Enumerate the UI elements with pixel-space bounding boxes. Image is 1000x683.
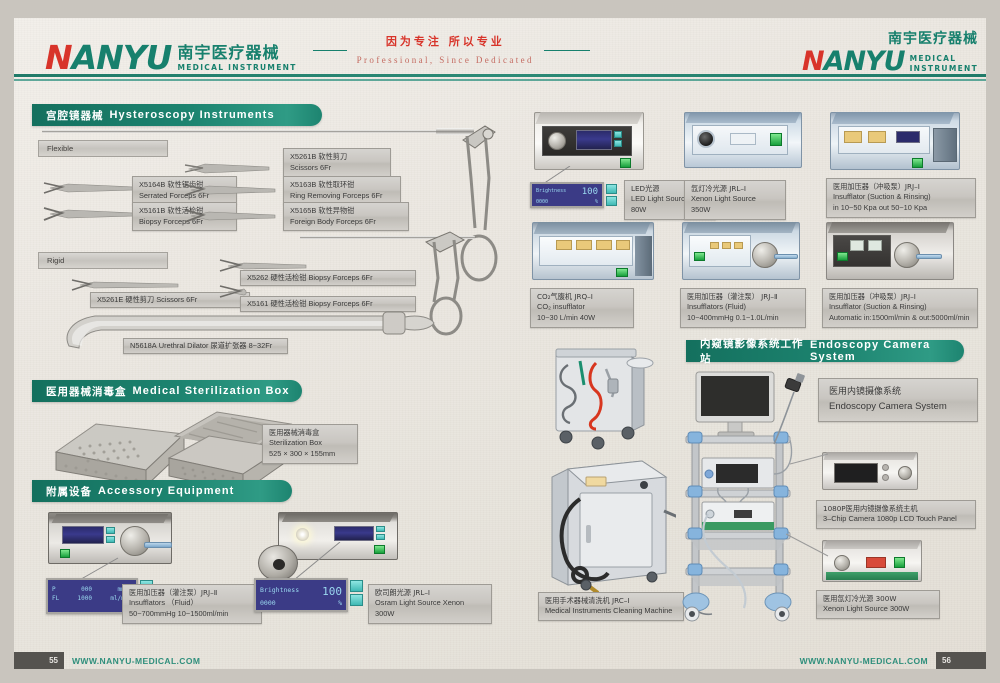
device-side-panel <box>933 128 957 162</box>
n5618a-code: N5618A <box>130 341 157 352</box>
xenon-light-cn: 氙灯冷光源 JRL–Ⅰ <box>691 184 779 194</box>
insufflator-fluid-cn: 医用加压器（灌注泵）JRJ–Ⅱ <box>129 588 255 598</box>
lcd-osram-label-1: Brightness <box>260 586 299 597</box>
lcd-insufflator-label-2: FL <box>52 595 59 602</box>
caption-x5262: X5262 硬性活检钳 Biopsy Forceps 6Fr <box>240 270 416 286</box>
section-header-hysteroscopy-cn: 宫腔镜器械 <box>46 108 104 123</box>
camera-ccu-en: 3–Chip Camera 1080p LCD Touch Panel <box>823 514 969 525</box>
co2-insufflator-cn: CO₂气腹机 JRQ–Ⅰ <box>537 292 627 302</box>
x5165b-cn: 软性异物钳 <box>318 206 354 215</box>
insufflator-fluid2-spec: 10~400mmHg 0.1~1.0L/min <box>687 313 799 324</box>
page-frame-top <box>0 0 1000 18</box>
device-display-1 <box>710 242 719 249</box>
x5163b-code: X5163B <box>290 180 316 189</box>
device-pump-rotor[interactable] <box>120 526 150 556</box>
caption-sterilization-box: 医用器械消毒盒 Sterilization Box 525 × 300 × 15… <box>262 424 358 464</box>
xenon-300w-en: Xenon Light Source 300W <box>823 604 933 615</box>
footer-right: WWW.NANYU-MEDICAL.COM 56 <box>792 652 986 669</box>
cleaning-machine-en: Medical Instruments Cleaning Machine <box>545 606 677 617</box>
device-button-2[interactable] <box>376 534 385 540</box>
device-tubing <box>916 254 942 259</box>
device-xenon-light-300w <box>822 540 922 582</box>
section-header-camera-en: Endoscopy Camera System <box>810 339 964 363</box>
device-top-panel <box>52 514 169 523</box>
section-header-accessory-cn: 附属设备 <box>46 484 92 499</box>
device-top-panel <box>823 540 921 549</box>
device-light-port <box>697 130 715 148</box>
device-button-1[interactable] <box>376 526 385 532</box>
sterilization-box-dimensions: 525 × 300 × 155mm <box>269 449 351 460</box>
instrument-cleaning-machine-icon <box>546 455 676 595</box>
section-header-sterilization-en: Medical Sterilization Box <box>133 385 290 397</box>
insufflator-auto-spec: Automatic in:1500ml/min & out:5000ml/min <box>829 313 971 324</box>
n5618a-en: Urethral Dilator <box>159 341 209 352</box>
device-power-led <box>374 545 385 554</box>
header-rule-secondary <box>14 79 986 81</box>
device-display-2 <box>868 131 886 143</box>
device-button-2[interactable] <box>614 140 622 147</box>
co2-insufflator-spec: 10~30 L/min 40W <box>537 313 627 324</box>
device-top-panel <box>535 112 642 124</box>
device-top-panel <box>823 452 916 460</box>
section-header-sterilization: 医用器械消毒盒 Medical Sterilization Box <box>32 380 302 402</box>
device-power-led <box>837 252 848 261</box>
section-header-hysteroscopy-en: Hysteroscopy Instruments <box>110 109 275 121</box>
device-xenon-light-source <box>684 112 802 168</box>
section-header-camera-cn: 内窥镜影像系统工作站 <box>700 336 804 366</box>
section-header-camera-system: 内窥镜影像系统工作站 Endoscopy Camera System <box>686 340 964 362</box>
lcd-led-label-2: 0000 <box>536 199 548 205</box>
lcd-osram-unit-2: % <box>338 599 342 607</box>
x5262-en: Biopsy Forceps 6Fr <box>308 273 372 284</box>
lcd-button-up[interactable] <box>350 580 363 592</box>
device-insufflator-fluid-2 <box>682 222 800 280</box>
section-header-hysteroscopy: 宫腔镜器械 Hysteroscopy Instruments <box>32 104 322 126</box>
lcd-zoom-buttons-osram[interactable] <box>350 580 364 610</box>
x5161b-code: X5161B <box>139 206 165 215</box>
endoscopy-tower-cart-icon <box>678 370 838 625</box>
insufflator-suction-en: Insufflator (Suction & Rinsing) <box>833 192 969 203</box>
device-display-1 <box>844 131 862 143</box>
caption-insufflator-fluid: 医用加压器（灌注泵）JRJ–Ⅱ Insufflators （Fluid） 50~… <box>122 584 262 624</box>
device-display <box>866 557 886 568</box>
insufflator-suction-spec: in 10~50 Kpa out 50~10 Kpa <box>833 203 969 214</box>
x5261b-code: X5261B <box>290 152 316 161</box>
x5262-cn: 硬性活检钳 <box>270 273 306 283</box>
device-display-3 <box>734 242 743 249</box>
caption-camera-control-unit: 1080P医用内镜摄像系统主机 3–Chip Camera 1080p LCD … <box>816 500 976 529</box>
lcd-led-label-1: Brightness <box>536 188 566 197</box>
instrument-foreign-body-forceps-icon <box>183 208 278 224</box>
device-insufflator-suction-auto <box>826 222 954 280</box>
caption-x5165b: X5165B 软性异物钳 Foreign Body Forceps 6Fr <box>283 202 409 231</box>
device-top-panel <box>686 112 801 123</box>
brand-subtitle-right: MEDICALINSTRUMENT <box>910 54 978 73</box>
device-display-2 <box>868 240 882 251</box>
device-lcd-screen <box>62 526 104 544</box>
footer-url-right[interactable]: WWW.NANYU-MEDICAL.COM <box>792 656 936 666</box>
device-top-panel <box>832 112 955 124</box>
device-button-2[interactable] <box>882 474 889 481</box>
page-frame-left <box>0 0 14 683</box>
xenon-light-en: Xenon Light Source <box>691 194 779 205</box>
device-lcd-screen <box>334 526 374 541</box>
device-display-2 <box>722 242 731 249</box>
rigid-group-label: Rigid <box>38 252 168 269</box>
page-frame-bottom <box>0 669 1000 683</box>
tagline-en: Professional, Since Dedicated <box>357 55 534 65</box>
section-header-accessory-en: Accessory Equipment <box>98 485 234 497</box>
caption-co2-insufflator: CO₂气腹机 JRQ–Ⅰ CO₂ insufflator 10~30 L/min… <box>530 288 634 328</box>
caption-cleaning-machine: 医用手术器械清洗机 JRC–Ⅰ Medical Instruments Clea… <box>538 592 684 621</box>
insufflator-fluid2-en: Insufflators (Fluid) <box>687 302 799 313</box>
device-display-1 <box>556 240 572 250</box>
x5261b-cn: 软性剪刀 <box>318 152 347 161</box>
brand-logo-left: NANYU 南宇医疗器械 MEDICAL INSTRUMENT 因为专注 所以专… <box>45 32 590 74</box>
device-power-led <box>912 158 923 168</box>
sterilization-box-en: Sterilization Box <box>269 438 351 449</box>
osram-light-spec: 300W <box>375 609 485 620</box>
lcd-insufflator-value-2: 1000 <box>78 595 92 602</box>
insufflator-fluid2-cn: 医用加压器（灌注泵） JRJ–Ⅱ <box>687 292 799 302</box>
cleaning-machine-cn: 医用手术器械清洗机 JRC–Ⅰ <box>545 596 677 606</box>
leader-line-xenon <box>786 530 830 564</box>
x5262-code: X5262 <box>247 273 268 284</box>
lcd-zoom-led: Brightness 100 0000 % <box>530 182 604 208</box>
device-top-panel <box>534 222 651 234</box>
x5261b-en: Scissors 6Fr <box>290 163 384 174</box>
caption-insufflator-suction: 医用加压器（冲吸泵）JRJ–Ⅰ Insufflator (Suction & R… <box>826 178 976 218</box>
n5618a-size: 8~32Fr <box>249 341 273 352</box>
instrument-ring-removing-forceps-icon <box>183 182 278 198</box>
device-top-panel <box>684 222 796 233</box>
device-button-1[interactable] <box>106 527 115 534</box>
camera-system-title-en: Endoscopy Camera System <box>829 399 967 414</box>
osram-light-en: Osram Light Source Xenon <box>375 598 485 609</box>
tagline-cn: 因为专注 所以专业 <box>386 35 505 48</box>
xenon-300w-cn: 医用氙灯冷光源 300W <box>823 594 933 604</box>
camera-system-title-cn: 医用内镜摄像系统 <box>829 385 967 399</box>
device-brightness-knob[interactable] <box>548 132 566 150</box>
device-connector-port <box>898 466 912 480</box>
catalog-page: NANYU 南宇医疗器械 MEDICAL INSTRUMENT 因为专注 所以专… <box>0 0 1000 683</box>
lcd-zoom-osram: Brightness 100 0000 % <box>254 578 348 612</box>
brand-wordmark-right: NANYU <box>802 48 905 75</box>
caption-insufflator-fluid-2: 医用加压器（灌注泵） JRJ–Ⅱ Insufflators (Fluid) 10… <box>680 288 806 328</box>
osram-light-cn: 欧司朗光源 JRL–Ⅰ <box>375 588 485 598</box>
device-led-light-source <box>534 112 644 170</box>
sterilization-box-cn: 医用器械消毒盒 <box>269 428 351 438</box>
device-display-3 <box>596 240 612 250</box>
x5165b-code: X5165B <box>290 206 316 215</box>
device-display-4 <box>616 240 630 250</box>
device-power-led <box>894 557 905 568</box>
device-tubing <box>774 254 798 259</box>
instrument-serrated-forceps-icon <box>42 180 137 196</box>
caption-xenon-light-source: 氙灯冷光源 JRL–Ⅰ Xenon Light Source 350W <box>684 180 786 220</box>
lcd-osram-label-2: 0000 <box>260 599 276 607</box>
lcd-button-down[interactable] <box>350 594 363 606</box>
device-light-port <box>834 555 850 571</box>
co2-insufflator-en: CO₂ insufflator <box>537 302 627 313</box>
flexible-group-label: Flexible <box>38 140 168 157</box>
caption-xenon-light-300w: 医用氙灯冷光源 300W Xenon Light Source 300W <box>816 590 940 619</box>
device-side-panel <box>635 236 652 276</box>
footer-page-number-right: 56 <box>936 652 986 669</box>
device-lcd-screen <box>576 130 612 150</box>
device-display-window <box>730 133 756 145</box>
x5164b-code: X5164B <box>139 180 165 189</box>
camera-ccu-cn: 1080P医用内镜摄像系统主机 <box>823 504 969 514</box>
insufflator-auto-en: Insufflator (Suction & Rinsing) <box>829 302 971 313</box>
caption-x5261b: X5261B 软性剪刀 Scissors 6Fr <box>283 148 391 177</box>
brand-wordmark: NANYU <box>45 41 171 74</box>
x5163b-en: Ring Removing Forceps 6Fr <box>290 191 394 202</box>
brand-logo-right: 南宇医疗器械 NANYU MEDICALINSTRUMENT <box>802 28 978 75</box>
device-power-led <box>620 158 631 168</box>
device-insufflator-suction-rinsing <box>830 112 960 170</box>
device-button-1[interactable] <box>614 131 622 138</box>
hysteroscope-shaft <box>42 130 437 133</box>
x5163b-cn: 软性取环钳 <box>318 180 354 189</box>
device-display-3 <box>896 131 920 143</box>
insufflator-fluid-spec: 50~700mmHg 10~1500ml/min <box>129 609 255 620</box>
instrument-rigid-scissors-icon <box>70 278 180 292</box>
instrument-scissors-flexible-icon <box>183 160 273 176</box>
device-light-port <box>296 528 309 541</box>
footer-left: 55 WWW.NANYU-MEDICAL.COM <box>14 652 208 669</box>
device-co2-insufflator <box>532 222 654 280</box>
lcd-insufflator-value-1: 000 <box>81 586 92 593</box>
tagline-rule-left <box>313 50 347 51</box>
device-tubing <box>144 542 172 548</box>
caption-osram-light: 欧司朗光源 JRL–Ⅰ Osram Light Source Xenon 300… <box>368 584 492 624</box>
insufflator-auto-cn: 医用加压器（冲吸泵）JRJ–Ⅰ <box>829 292 971 302</box>
device-top-panel <box>282 514 394 522</box>
page-frame-right <box>986 0 1000 683</box>
lcd-zoom-buttons-led[interactable] <box>606 184 618 208</box>
device-power-led <box>694 252 705 261</box>
device-camera-control-unit <box>822 452 918 490</box>
section-header-sterilization-cn: 医用器械消毒盒 <box>46 384 127 399</box>
device-green-stripe <box>826 572 918 580</box>
insufflator-fluid-en: Insufflators （Fluid） <box>129 598 255 609</box>
device-power-led <box>616 268 628 277</box>
leader-line-osram <box>290 542 345 582</box>
section-header-accessory: 附属设备 Accessory Equipment <box>32 480 292 502</box>
brand-subtitle: MEDICAL INSTRUMENT <box>177 63 296 72</box>
lcd-led-value-1: 100 <box>582 188 598 197</box>
lcd-led-unit-2: % <box>595 199 598 205</box>
device-top-panel <box>828 222 950 233</box>
footer-url-left[interactable]: WWW.NANYU-MEDICAL.COM <box>64 656 208 666</box>
device-touch-panel <box>834 463 878 483</box>
brand-name-cn-right: 南宇医疗器械 <box>802 28 978 48</box>
caption-insufflator-suction-auto: 医用加压器（冲吸泵）JRJ–Ⅰ Insufflator (Suction & R… <box>822 288 978 328</box>
device-button-1[interactable] <box>882 464 889 471</box>
leader-line-ccu <box>790 440 830 470</box>
brand-name-cn: 南宇医疗器械 <box>177 39 296 63</box>
tagline-rule-right <box>544 50 590 51</box>
device-power-led <box>770 133 782 146</box>
lcd-osram-value-1: 100 <box>322 586 342 597</box>
device-button-2[interactable] <box>106 536 115 543</box>
x5165b-en: Foreign Body Forceps 6Fr <box>290 217 402 228</box>
device-front-panel <box>689 235 751 267</box>
lcd-button-down[interactable] <box>606 196 617 206</box>
lcd-insufflator-label-1: P <box>52 586 56 593</box>
device-display-2 <box>576 240 592 250</box>
n5618a-cn: 尿道扩张器 <box>211 341 247 351</box>
lcd-button-up[interactable] <box>606 184 617 194</box>
insufflator-suction-cn: 医用加压器（冲吸泵）JRJ–Ⅰ <box>833 182 969 192</box>
caption-n5618a: N5618A Urethral Dilator 尿道扩张器 8~32Fr <box>123 338 288 354</box>
instrument-cleaning-trolley-icon <box>540 345 660 460</box>
footer-page-number-left: 55 <box>14 652 64 669</box>
xenon-light-spec: 350W <box>691 205 779 216</box>
caption-camera-system-title: 医用内镜摄像系统 Endoscopy Camera System <box>818 378 978 422</box>
device-display-1 <box>850 240 864 251</box>
instrument-biopsy-forceps-flexible-icon <box>42 206 137 222</box>
